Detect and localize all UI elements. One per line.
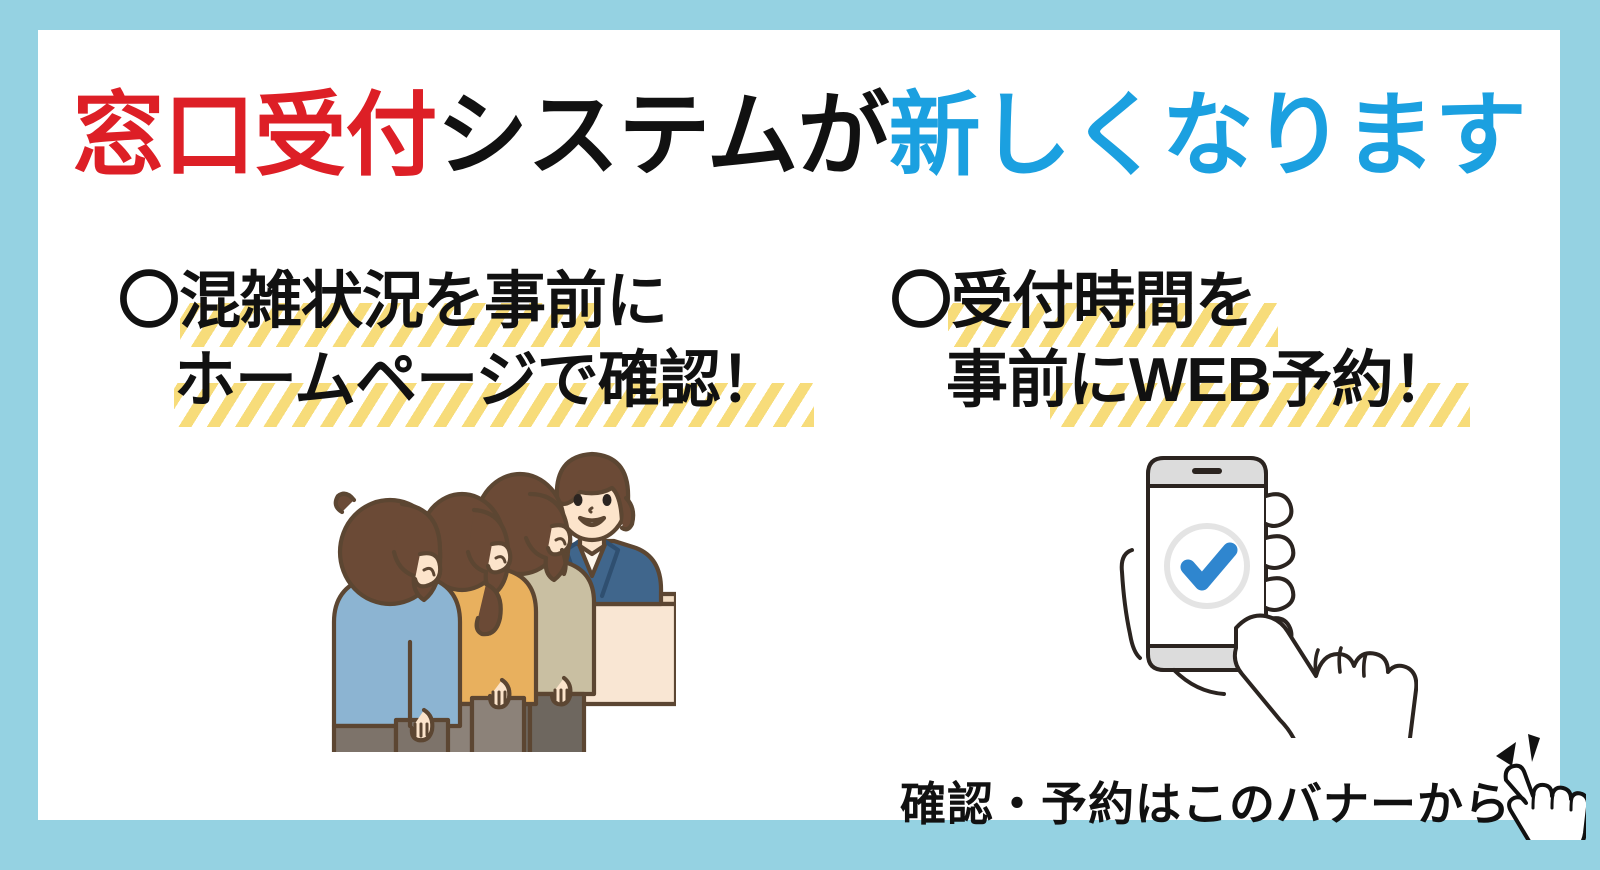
bullet-right-marker: 〇 (890, 267, 951, 336)
page-title: 窓口受付システムが新しくなります (38, 90, 1560, 182)
bullet-left-marker: 〇 (118, 267, 179, 336)
title-segment-blue: 新しくなります (889, 85, 1526, 187)
pointing-hand-cursor-icon (1466, 720, 1586, 840)
bullet-left-text1: 混雑状況を事前に (179, 267, 667, 336)
title-segment-red: 窓口受付 (72, 85, 436, 187)
people-queue-illustration (324, 442, 676, 752)
bullet-left-line1: 〇混雑状況を事前に (118, 262, 781, 341)
banner-frame: 窓口受付システムが新しくなります 〇混雑状況を事前に ホームページで確認！ 〇受… (0, 0, 1600, 870)
bullet-right-text1: 受付時間を (951, 267, 1256, 336)
bullet-right-line1: 〇受付時間を (890, 262, 1454, 341)
title-segment-black: システムが (436, 85, 888, 187)
bullet-block-right: 〇受付時間を 事前にWEB予約！ (890, 262, 1454, 421)
smartphone-booking-illustration (1088, 438, 1418, 738)
bullet-right-text2: 事前にWEB予約！ (946, 346, 1454, 415)
bullet-right-line2: 事前にWEB予約！ (890, 341, 1454, 420)
bullet-block-left: 〇混雑状況を事前に ホームページで確認！ (118, 262, 781, 421)
bullet-left-text2: ホームページで確認！ (174, 346, 781, 415)
bullet-left-line2: ホームページで確認！ (118, 341, 781, 420)
banner-caption: 確認・予約はこのバナーから (900, 768, 1511, 834)
banner-card: 窓口受付システムが新しくなります 〇混雑状況を事前に ホームページで確認！ 〇受… (38, 30, 1560, 820)
